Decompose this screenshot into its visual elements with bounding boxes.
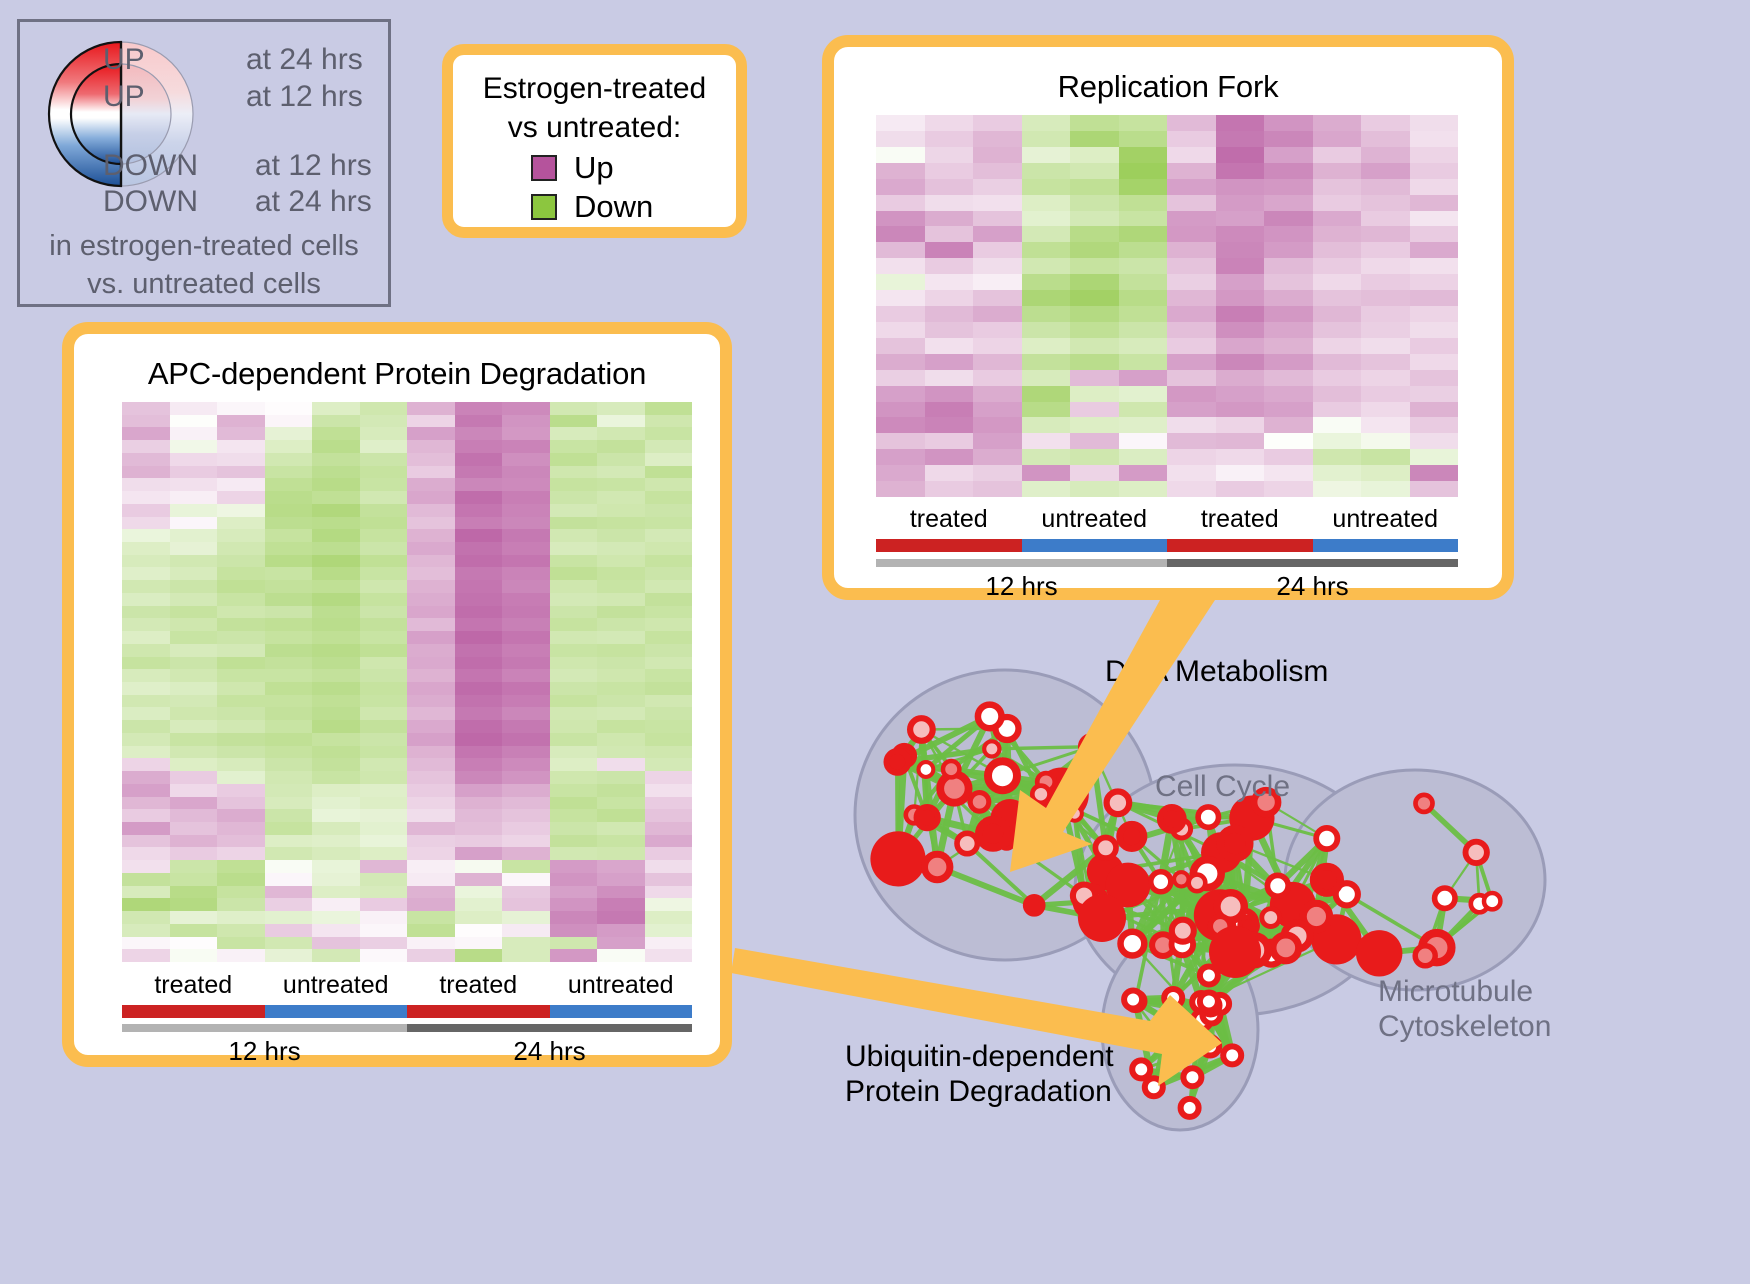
arrow-replication-fork-to-network <box>1010 600 1215 872</box>
arrow-apc-to-network <box>731 948 1222 1086</box>
connector-arrows <box>0 0 1750 1279</box>
